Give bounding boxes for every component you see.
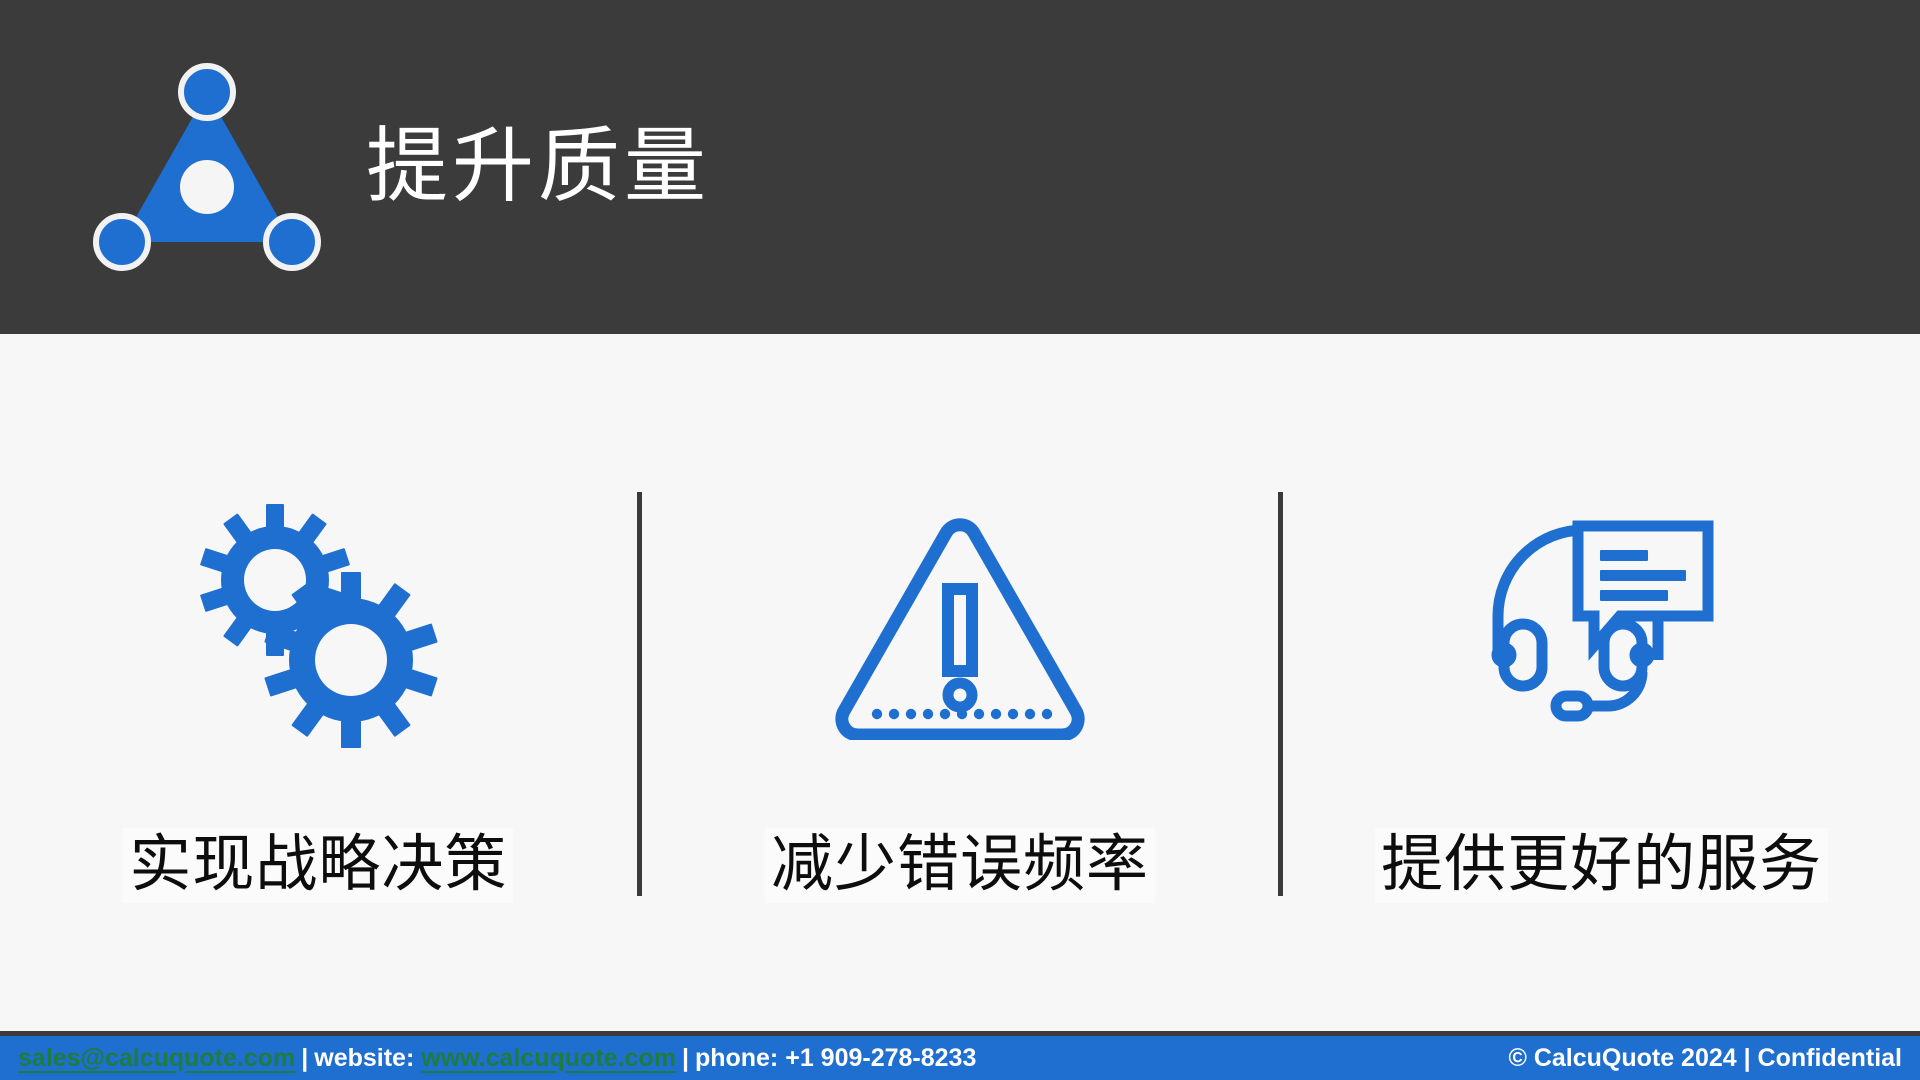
phone-label: phone: [695, 1046, 778, 1071]
gears-icon [193, 462, 443, 792]
feature-label: 减少错误频率 [765, 828, 1155, 903]
footer-separator-2: | [676, 1046, 695, 1071]
feature-column-strategic-decisions: 实现战略决策 [0, 334, 637, 1031]
warning-triangle-icon [834, 462, 1086, 792]
page-title: 提升质量 [366, 122, 710, 212]
feature-column-better-service: 提供更好的服务 [1283, 334, 1920, 1031]
phone-number: +1 909-278-8233 [785, 1046, 976, 1071]
feature-label: 提供更好的服务 [1375, 828, 1828, 903]
footer-contact-info: sales@calcuquote.com | website: www.calc… [18, 1046, 976, 1071]
feature-label: 实现战略决策 [123, 828, 513, 903]
feature-column-reduce-errors: 减少错误频率 [642, 334, 1279, 1031]
headset-support-icon [1482, 462, 1722, 792]
footer-separator-1: | [295, 1046, 314, 1071]
footer-copyright: © CalcuQuote 2024 | Confidential [1508, 1046, 1902, 1071]
email-link[interactable]: sales@calcuquote.com [18, 1046, 295, 1071]
website-label: website: [314, 1046, 414, 1071]
calcuquote-triangle-logo [92, 52, 322, 282]
page-header: 提升质量 [0, 0, 1920, 334]
main-content: 实现战略决策 [0, 334, 1920, 1031]
page-footer: sales@calcuquote.com | website: www.calc… [0, 1036, 1920, 1080]
website-link[interactable]: www.calcuquote.com [421, 1046, 676, 1071]
